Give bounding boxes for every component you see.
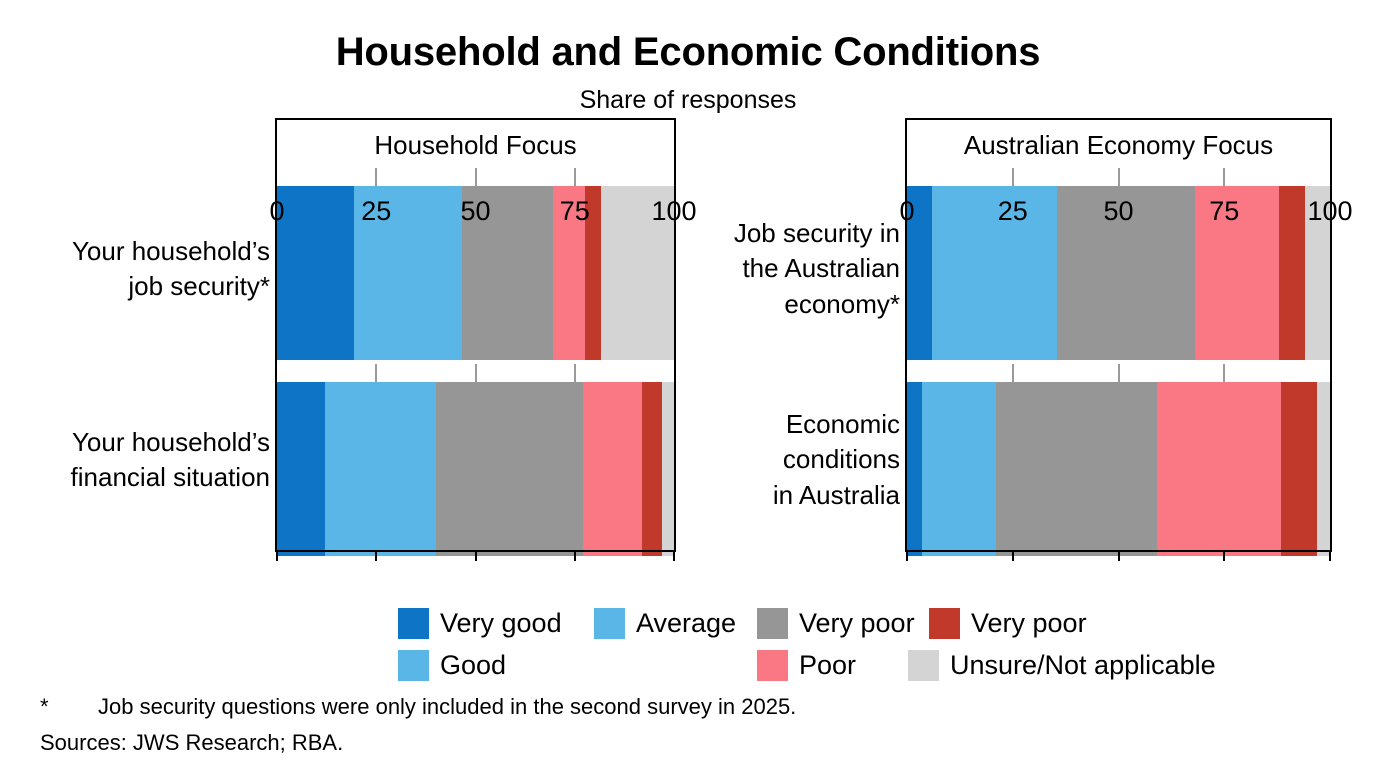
bar-segment-very-good bbox=[277, 186, 354, 360]
x-axis-tick bbox=[1118, 552, 1120, 561]
bar-segment-very-poor bbox=[642, 382, 662, 556]
x-axis-tick-label: 75 bbox=[1209, 196, 1239, 227]
x-axis-tick bbox=[276, 552, 278, 561]
x-axis-tick-label: 100 bbox=[651, 196, 696, 227]
legend-swatch-very-good bbox=[398, 608, 429, 639]
stacked-bar bbox=[907, 382, 1330, 556]
x-axis-tick-label: 25 bbox=[361, 196, 391, 227]
bar-segment-good bbox=[932, 186, 1057, 360]
plot-area-economy: 0255075100 bbox=[907, 186, 1330, 552]
legend-label-good: Good bbox=[440, 650, 506, 681]
x-axis-tick bbox=[574, 552, 576, 561]
gridline-tick bbox=[1012, 168, 1014, 186]
footnote-star-marker: * bbox=[40, 694, 98, 720]
panel-australian-economy-focus: Australian Economy Focus 0255075100 bbox=[905, 118, 1332, 552]
legend-swatch-very-poor-red bbox=[929, 608, 960, 639]
x-axis-tick bbox=[1223, 552, 1225, 561]
chart-title: Household and Economic Conditions bbox=[0, 30, 1376, 74]
bar-segment-good bbox=[325, 382, 436, 556]
legend-swatch-poor bbox=[757, 650, 788, 681]
gridline-tick bbox=[1118, 364, 1120, 382]
footnote-star: *Job security questions were only includ… bbox=[40, 694, 796, 720]
legend-item-poor: Poor bbox=[757, 650, 856, 681]
x-axis-tick-label: 100 bbox=[1307, 196, 1352, 227]
x-axis-tick bbox=[375, 552, 377, 561]
x-axis-tick-label: 50 bbox=[1103, 196, 1133, 227]
bar-segment-very-good bbox=[907, 382, 922, 556]
gridline-tick bbox=[1012, 364, 1014, 382]
gridline-tick bbox=[1223, 364, 1225, 382]
legend-swatch-average bbox=[594, 608, 625, 639]
gridline-tick bbox=[574, 168, 576, 186]
category-label-economy-conditions: Economic conditions in Australia bbox=[695, 407, 900, 513]
x-axis-tick bbox=[673, 552, 675, 561]
bar-segment-poor bbox=[583, 382, 643, 556]
bar-segment-unsure-not-applicable bbox=[662, 382, 674, 556]
bar-segment-very-poor bbox=[1279, 186, 1304, 360]
legend-label-poor: Poor bbox=[799, 650, 856, 681]
legend-item-very-good: Very good bbox=[398, 608, 562, 639]
legend-item-unsure: Unsure/Not applicable bbox=[908, 650, 1216, 681]
bar-segment-unsure-not-applicable bbox=[1317, 382, 1330, 556]
legend-label-very-poor-red: Very poor bbox=[971, 608, 1087, 639]
footnote-sources: Sources: JWS Research; RBA. bbox=[40, 730, 343, 756]
chart-figure: Household and Economic Conditions Share … bbox=[0, 0, 1376, 768]
legend-item-very-poor-gray: Very poor bbox=[757, 608, 915, 639]
legend-label-unsure: Unsure/Not applicable bbox=[950, 650, 1216, 681]
bar-segment-very-poor bbox=[1281, 382, 1317, 556]
chart-subtitle: Share of responses bbox=[0, 86, 1376, 115]
category-label-household-financial-situation: Your household’s financial situation bbox=[25, 425, 270, 496]
stacked-bar bbox=[277, 382, 674, 556]
gridline-tick bbox=[1118, 168, 1120, 186]
x-axis-tick bbox=[906, 552, 908, 561]
gridline-tick bbox=[1223, 168, 1225, 186]
legend-swatch-good bbox=[398, 650, 429, 681]
bar-segment-good bbox=[922, 382, 996, 556]
bar-segment-very-good bbox=[277, 382, 325, 556]
legend-item-very-poor-red: Very poor bbox=[929, 608, 1087, 639]
panel-household-focus: Household Focus 0255075100 bbox=[275, 118, 676, 552]
bar-segment-poor bbox=[1157, 382, 1282, 556]
panel-title-economy: Australian Economy Focus bbox=[907, 130, 1330, 161]
legend-swatch-unsure bbox=[908, 650, 939, 681]
footnote-star-text: Job security questions were only include… bbox=[98, 694, 796, 719]
x-axis-tick bbox=[1329, 552, 1331, 561]
panel-title-household: Household Focus bbox=[277, 130, 674, 161]
x-axis-tick-label: 0 bbox=[269, 196, 284, 227]
legend-item-average: Average bbox=[594, 608, 736, 639]
gridline-tick bbox=[574, 364, 576, 382]
bar-segment-average bbox=[436, 382, 583, 556]
x-axis-tick-label: 75 bbox=[560, 196, 590, 227]
gridline-tick bbox=[475, 364, 477, 382]
x-axis-tick-label: 50 bbox=[460, 196, 490, 227]
bar-segment-average bbox=[996, 382, 1157, 556]
legend-item-good: Good bbox=[398, 650, 506, 681]
x-axis-tick bbox=[475, 552, 477, 561]
category-label-household-job-security: Your household’s job security* bbox=[25, 234, 270, 305]
x-axis-tick bbox=[1012, 552, 1014, 561]
legend-label-average: Average bbox=[636, 608, 736, 639]
gridline-tick bbox=[375, 364, 377, 382]
plot-area-household: 0255075100 bbox=[277, 186, 674, 552]
legend-label-very-good: Very good bbox=[440, 608, 562, 639]
legend-label-very-poor-gray: Very poor bbox=[799, 608, 915, 639]
gridline-tick bbox=[375, 168, 377, 186]
x-axis-tick-label: 0 bbox=[899, 196, 914, 227]
legend-swatch-very-poor-gray bbox=[757, 608, 788, 639]
category-label-economy-job-security: Job security in the Australian economy* bbox=[695, 216, 900, 322]
chart-legend: Very good Good Average Poor Very poor Ve… bbox=[0, 608, 1376, 688]
gridline-tick bbox=[475, 168, 477, 186]
x-axis-tick-label: 25 bbox=[998, 196, 1028, 227]
